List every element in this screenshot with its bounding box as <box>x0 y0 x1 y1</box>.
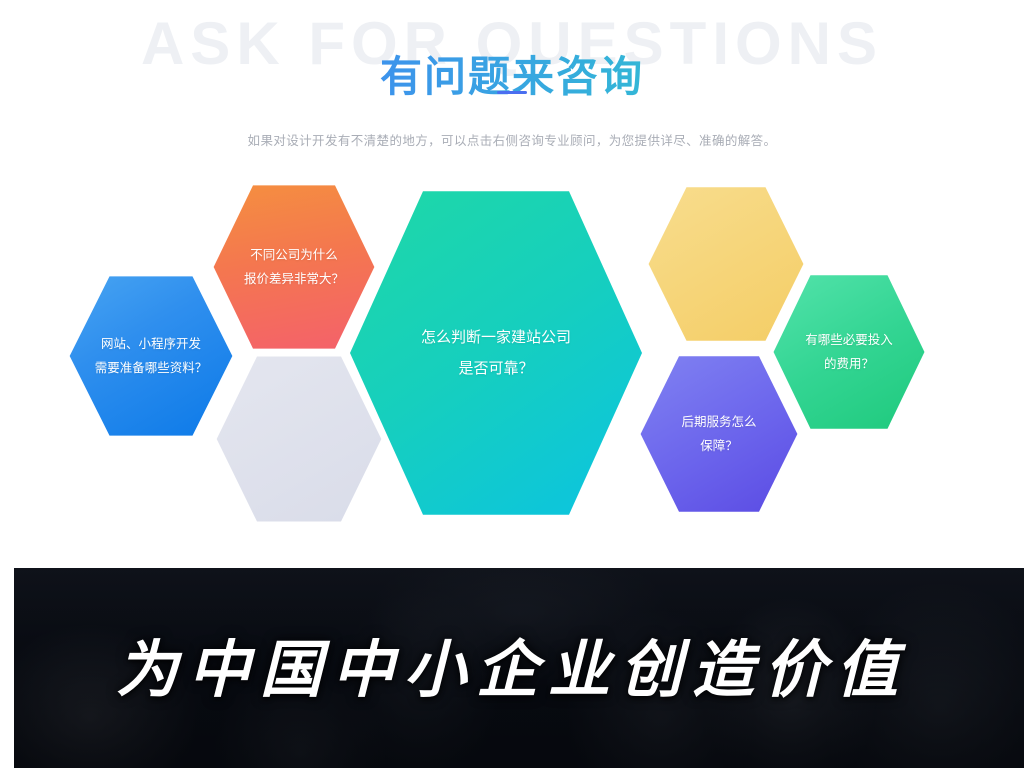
section-subtitle: 如果对设计开发有不清楚的地方，可以点击右侧咨询专业顾问，为您提供详尽、准确的解答… <box>0 131 1024 151</box>
hex-card-line-1: 网站、小程序开发 <box>101 332 201 356</box>
hex-card-line-1: 有哪些必要投入 <box>805 328 893 352</box>
banner-slogan: 为中国中小企业创造价值 <box>0 640 1024 702</box>
hex-card-necessary-costs[interactable]: 有哪些必要投入 的费用？ <box>772 272 926 432</box>
section-heading: ASK FOR QUESTIONS 有问题来咨询 如果对设计开发有不清楚的地方，… <box>0 0 1024 150</box>
hex-card-reliable-company[interactable]: 怎么判断一家建站公司 是否可靠？ <box>350 188 642 518</box>
page-title: 有问题来咨询 <box>0 52 1024 102</box>
hex-decoration-gray <box>215 353 383 525</box>
slogan-banner: 为中国中小企业创造价值 <box>0 568 1024 768</box>
hex-card-line-2: 保障？ <box>700 434 738 458</box>
hex-card-line-2: 的费用？ <box>824 352 874 376</box>
title-divider <box>497 91 527 94</box>
faq-section: ASK FOR QUESTIONS 有问题来咨询 如果对设计开发有不清楚的地方，… <box>0 0 1024 566</box>
hex-decoration-yellow <box>647 184 805 344</box>
hex-card-after-sales[interactable]: 后期服务怎么 保障？ <box>639 353 799 515</box>
hex-card-website-materials[interactable]: 网站、小程序开发 需要准备哪些资料？ <box>68 273 234 439</box>
hex-card-line-1: 怎么判断一家建站公司 <box>421 322 571 354</box>
hexagon-cluster: 网站、小程序开发 需要准备哪些资料？ 不同公司为什么 报价差异非常大？ 怎么判断… <box>0 150 1024 566</box>
hex-card-line-2: 是否可靠？ <box>458 353 533 385</box>
hex-card-line-1: 后期服务怎么 <box>681 410 756 434</box>
hex-card-price-difference[interactable]: 不同公司为什么 报价差异非常大？ <box>212 182 376 352</box>
hex-card-line-1: 不同公司为什么 <box>250 243 338 267</box>
hex-card-line-2: 报价差异非常大？ <box>244 267 344 291</box>
hex-card-line-2: 需要准备哪些资料？ <box>95 356 208 380</box>
